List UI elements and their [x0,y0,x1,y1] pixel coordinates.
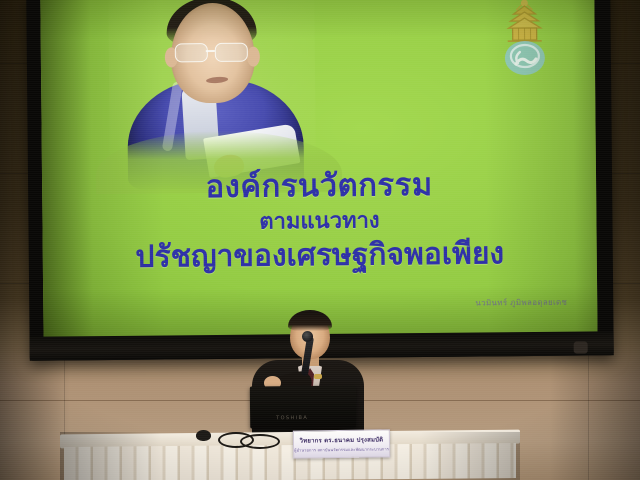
speaker-nameplate: วิทยากร ดร.ธนาคม ปรุงสมบัติ ผู้อำนวยการ … [293,429,390,458]
cable-bundle [196,430,284,448]
slide-title-line-1: องค์กรนวัตกรรม [42,165,596,207]
projection-screen-assembly: องค์กรนวัตกรรม ตามแนวทาง ปรัชญาของเศรษฐก… [28,0,612,358]
portrait-glasses [169,43,257,61]
slide-title-line-3: ปรัชญาของเศรษฐกิจพอเพียง [43,236,597,277]
glasses-bridge [206,50,215,52]
glasses-lens-right [215,43,248,62]
presenter-hair [288,310,332,331]
microphone-capsule-icon [302,331,313,342]
table-shading [60,432,520,480]
projection-screen-surface: องค์กรนวัตกรรม ตามแนวทาง ปรัชญาของเศรษฐก… [40,0,597,339]
draped-conference-table [60,432,520,480]
slide-title-line-2: ตามแนวทาง [42,205,596,239]
projection-screen-frame: องค์กรนวัตกรรม ตามแนวทาง ปรัชญาของเศรษฐก… [26,0,614,361]
presenter-wristwatch [314,374,322,379]
king-bhumibol-portrait [108,0,316,182]
nameplate-name-text: วิทยากร ดร.ธนาคม ปรุงสมบัติ [300,434,384,445]
presentation-photo-scene: องค์กรนวัตกรรม ตามแนวทาง ปรัชญาของเศรษฐก… [0,0,640,480]
glasses-lens-left [175,43,208,62]
computer-mouse [196,430,211,441]
laptop-brand-label: TOSHIBA [276,415,308,421]
nameplate-title-text: ผู้อำนวยการ สถาบันนวัตกรรมและพัฒนากระบวน… [294,445,389,453]
laptop-computer: TOSHIBA [250,385,356,428]
cable-loop [240,434,280,449]
screen-roller-knob [574,341,588,353]
slide-title-block: องค์กรนวัตกรรม ตามแนวทาง ปรัชญาของเศรษฐก… [42,165,597,276]
royal-cypher-emblem [492,0,557,90]
slide-credit-text: นวมินทร์ ภูมิพลอดุลยเดช [475,296,567,310]
